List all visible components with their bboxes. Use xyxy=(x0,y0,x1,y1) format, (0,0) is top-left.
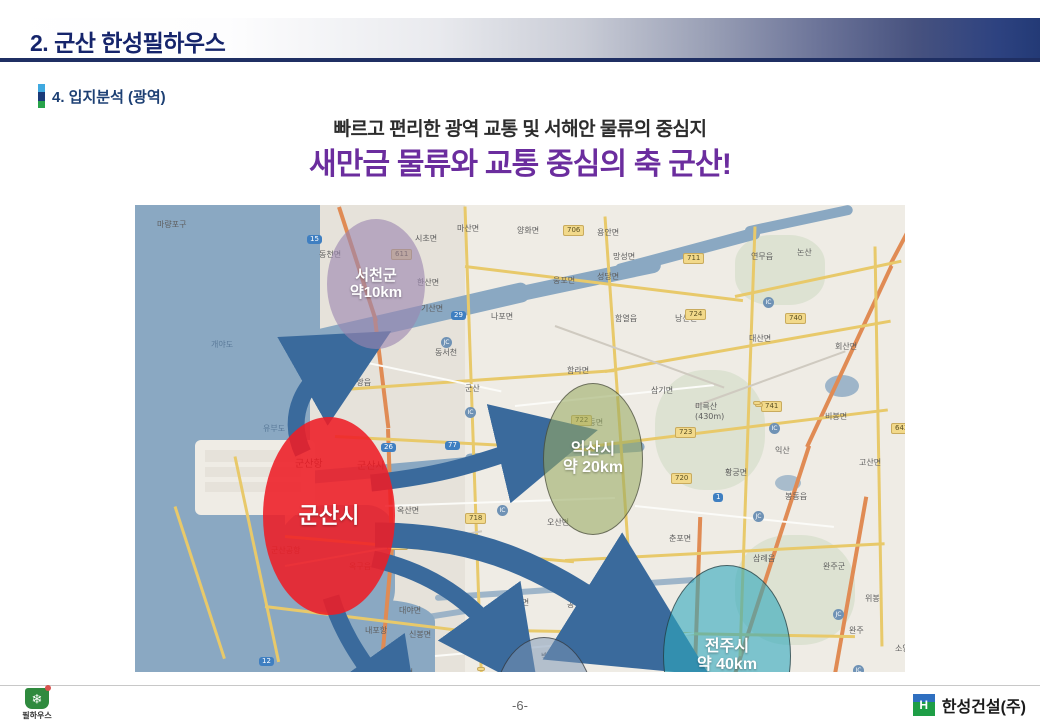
region-circle-iksan[interactable]: 익산시 약 20km xyxy=(543,383,643,535)
arrow-layer xyxy=(135,205,905,672)
page-number: -6- xyxy=(0,698,1040,713)
region-distance: 약 40km xyxy=(697,656,757,672)
footer-divider xyxy=(0,685,1040,686)
region-name: 전주시 xyxy=(705,638,749,656)
hanseong-logo-icon: H xyxy=(913,694,935,716)
logo-letter: H xyxy=(919,699,928,711)
region-distance: 약10km xyxy=(350,284,402,301)
headline-subtitle: 빠르고 편리한 광역 교통 및 서해안 물류의 중심지 xyxy=(0,118,1040,143)
region-distance: 약 20km xyxy=(563,459,623,477)
bud-icon xyxy=(45,685,51,691)
arrow-to-iksan xyxy=(371,445,535,483)
region-circle-gunsan[interactable]: 군산시 xyxy=(263,417,395,615)
slide: 2. 군산 한성필하우스 4. 입지분석 (광역) 빠르고 편리한 광역 교통 … xyxy=(0,0,1040,720)
header-underline xyxy=(0,58,1040,62)
arrow-to-gimje xyxy=(373,559,501,641)
section-label: 4. 입지분석 (광역) xyxy=(52,86,166,107)
map-canvas: 마량포구 개야도 유부도 동천면 시초면 마산면 양화면 용안면 망성면 웅포면… xyxy=(135,205,905,672)
footer-right-logo: H 한성건설(주) xyxy=(913,693,1026,717)
region-name: 서천군 xyxy=(355,267,396,284)
footer-right-brand: 한성건설(주) xyxy=(942,693,1026,717)
section-marker-icon xyxy=(38,84,45,108)
region-circle-seocheon[interactable]: 서천군 약10km xyxy=(327,219,425,349)
headline-main: 새만금 물류와 교통 중심의 축 군산! xyxy=(0,146,1040,184)
section-heading: 4. 입지분석 (광역) xyxy=(38,84,166,108)
region-name: 군산시 xyxy=(299,503,360,528)
page-title: 2. 군산 한성필하우스 xyxy=(30,24,225,58)
headline-block: 빠르고 편리한 광역 교통 및 서해안 물류의 중심지 새만금 물류와 교통 중… xyxy=(0,118,1040,183)
map-image: 마량포구 개야도 유부도 동천면 시초면 마산면 양화면 용안면 망성면 웅포면… xyxy=(135,205,905,672)
region-name: 익산시 xyxy=(571,441,615,459)
